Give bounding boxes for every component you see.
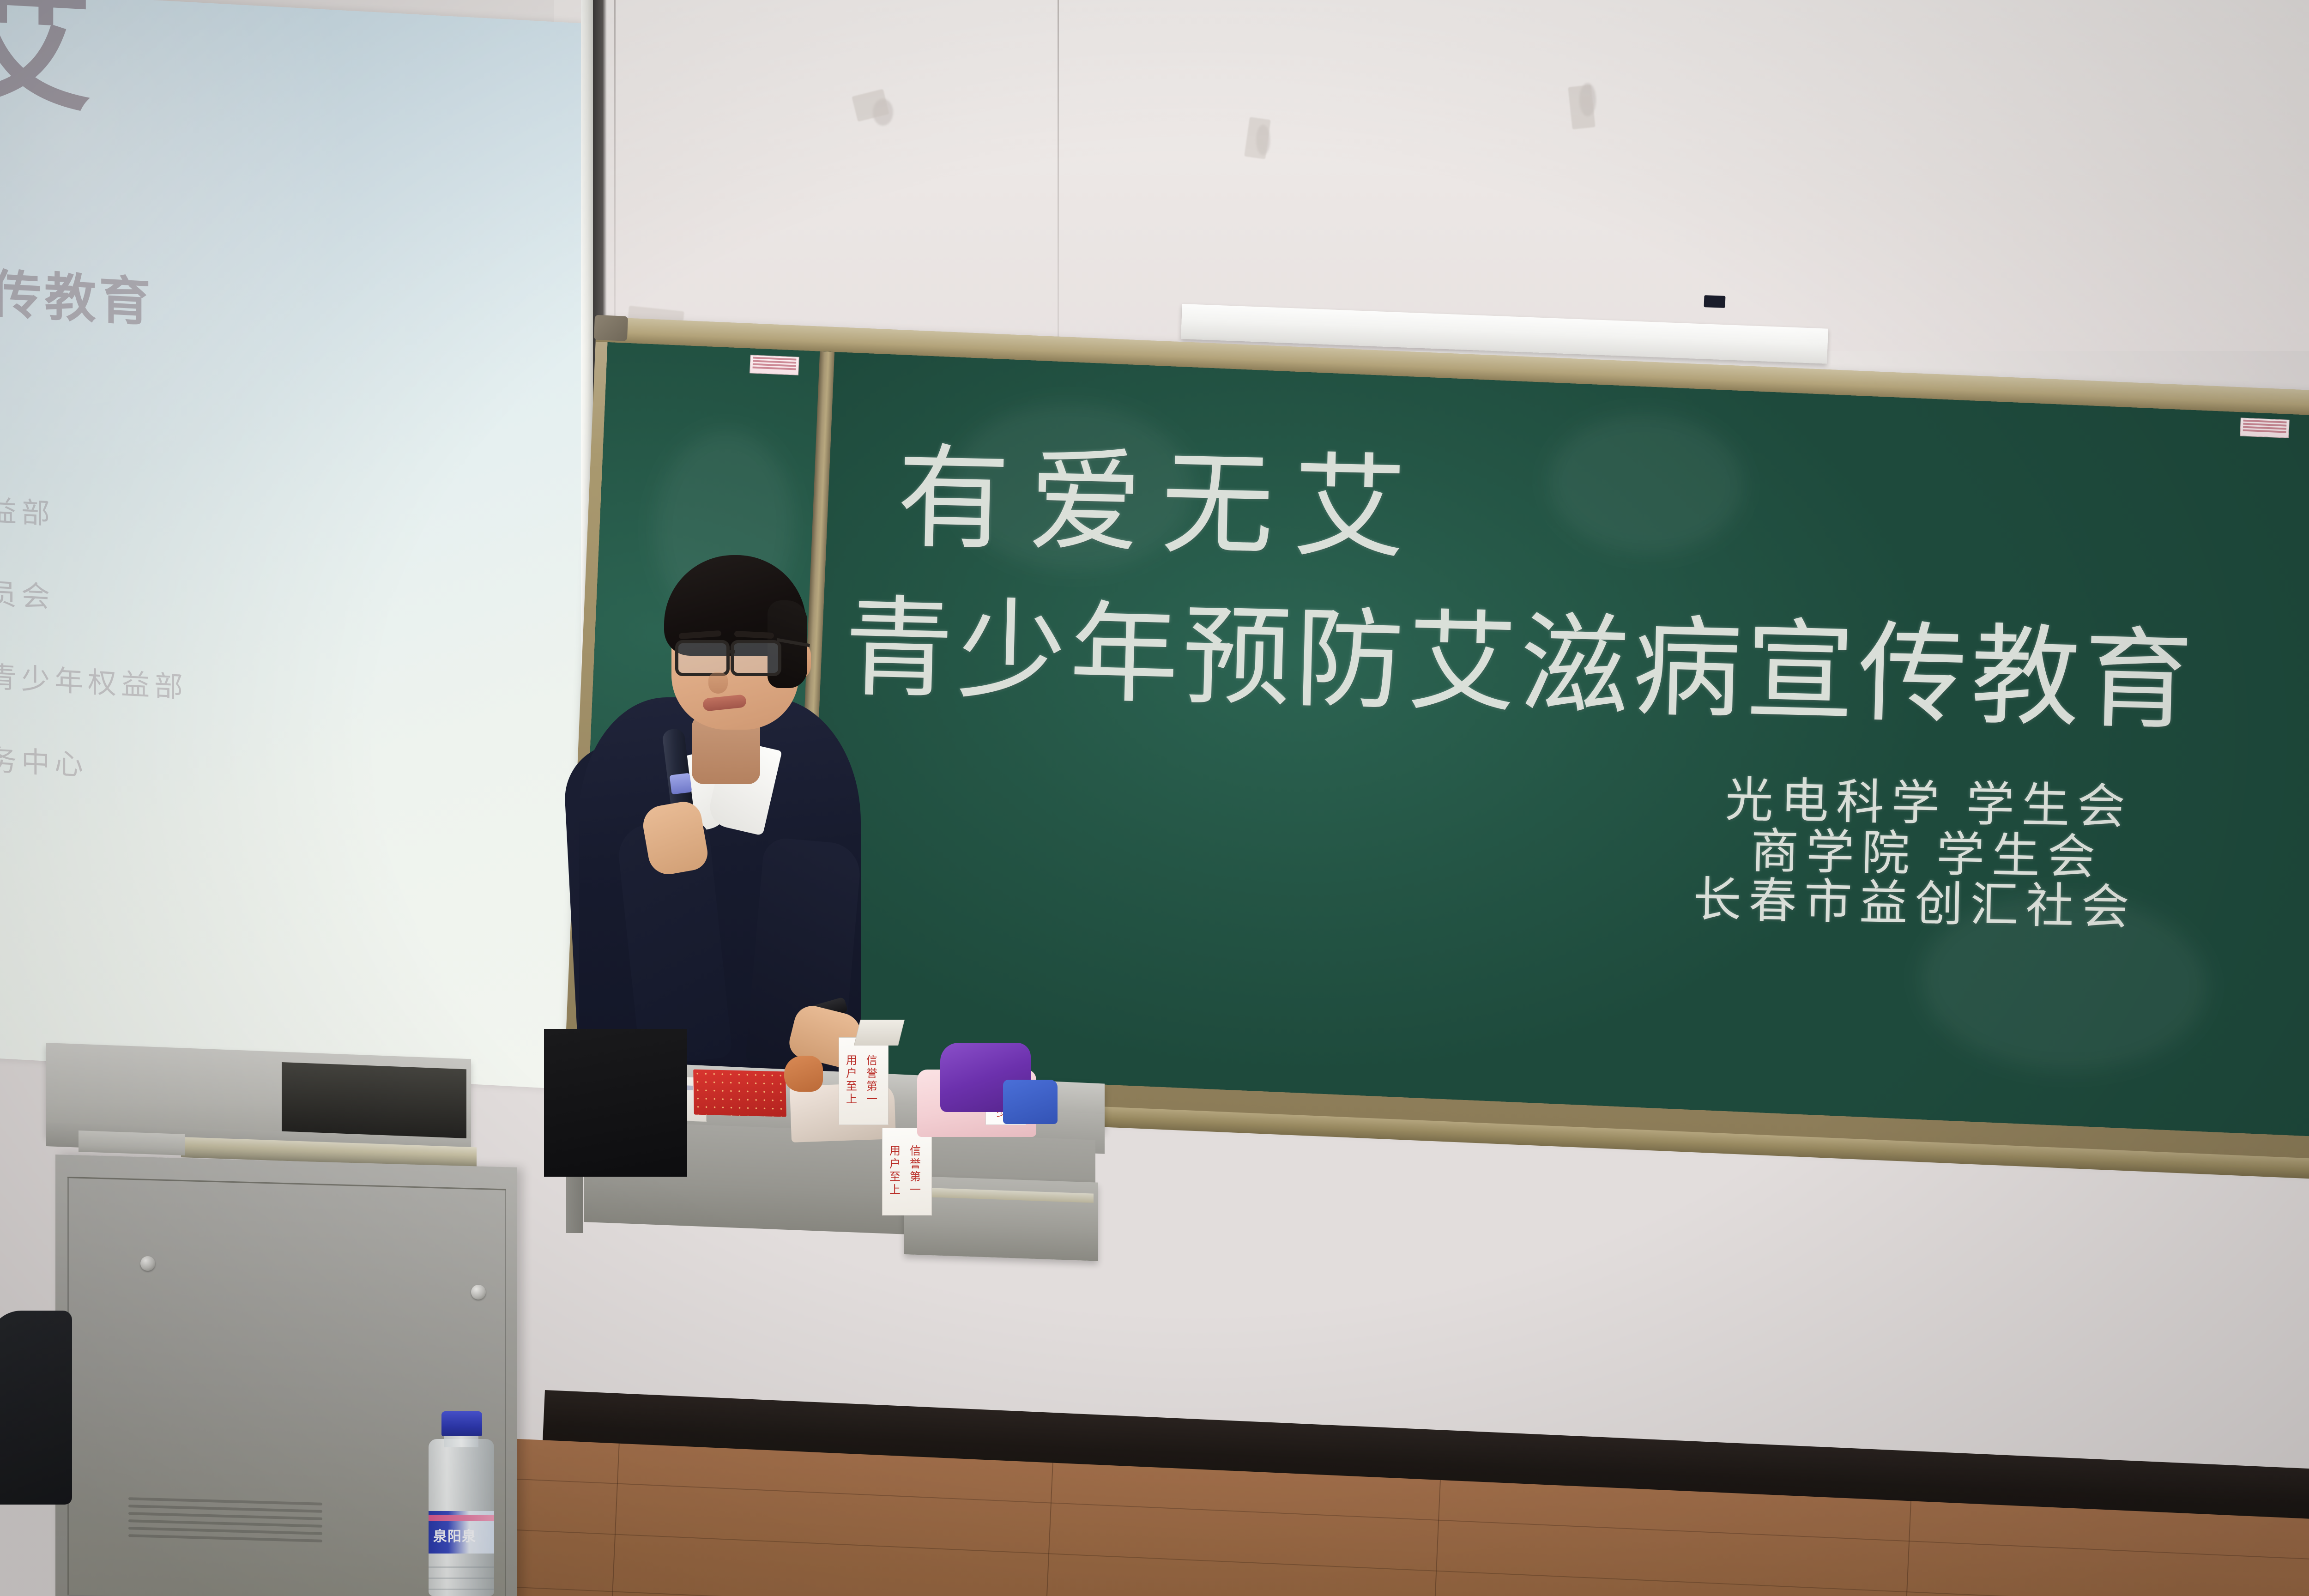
glasses-lens-left [675,640,730,676]
slide-logo-glyph: 艾 [0,0,88,121]
wall-seam [1058,0,1059,360]
carton-text-left: 用户至上 [846,1054,858,1106]
classroom-scene: 艾 宣传教育 年权益部 作委员会 维护青少年权益部 作服务中心 [0,0,2309,1596]
carton-box-2[interactable]: 用户至上 信誉第一 [882,1128,932,1215]
board-notice-sticker [2240,417,2290,438]
bottle-ring [429,1566,494,1568]
slide-line: 作委员会 [0,576,568,640]
blackboard-headline: 有爱无艾 [895,406,1427,581]
panel-clip-icon [1704,295,1726,308]
bottle-cap[interactable] [441,1411,482,1436]
lock-icon[interactable] [140,1256,155,1271]
wall-seam [614,0,616,323]
label-accent-bar [429,1515,494,1521]
blue-cloth[interactable] [1003,1080,1058,1124]
tape-residue [1568,85,1595,130]
glasses-bridge [728,650,735,653]
red-gift-box[interactable] [693,1070,786,1117]
blackboard-signature: 长春市益创汇社会 [1692,860,2137,938]
monitor-screen[interactable] [544,1029,687,1177]
carton-text-right: 信誉第一 [909,1145,921,1197]
water-bottle[interactable]: 泉阳泉 [425,1411,499,1596]
ventilation-grille [128,1497,322,1563]
bottle-ring [429,1589,494,1590]
drawer-slide-rail [79,1130,185,1155]
bottle-ring [429,1578,494,1579]
slide-line: 维护青少年权益部 [0,659,568,723]
snack-bag[interactable] [784,1056,823,1092]
carton-text-right: 信誉第一 [866,1054,878,1106]
wall-upper-section [554,0,2309,351]
slide-body-lines: 年权益部 作委员会 维护青少年权益部 作服务中心 [0,493,568,861]
projection-screen[interactable]: 艾 宣传教育 年权益部 作委员会 维护青少年权益部 作服务中心 [0,0,582,1090]
bottle-label: 泉阳泉 [429,1511,494,1554]
slide-title: 宣传教育 [0,266,153,329]
carton-flap [854,1020,905,1046]
presenter [568,545,882,1090]
bottle-brand-text: 泉阳泉 [433,1525,476,1545]
carton-box-1[interactable]: 用户至上 信誉第一 [839,1037,889,1125]
microphone-band [670,773,692,794]
board-notice-sticker [750,355,799,375]
nose [708,672,728,694]
chair[interactable] [0,1311,72,1505]
blackboard-corner-cap [594,315,628,341]
carton-text-left: 用户至上 [889,1145,901,1197]
glasses-lens-right [731,640,781,676]
lock-icon[interactable] [471,1285,486,1300]
slide-line: 作服务中心 [0,743,568,806]
